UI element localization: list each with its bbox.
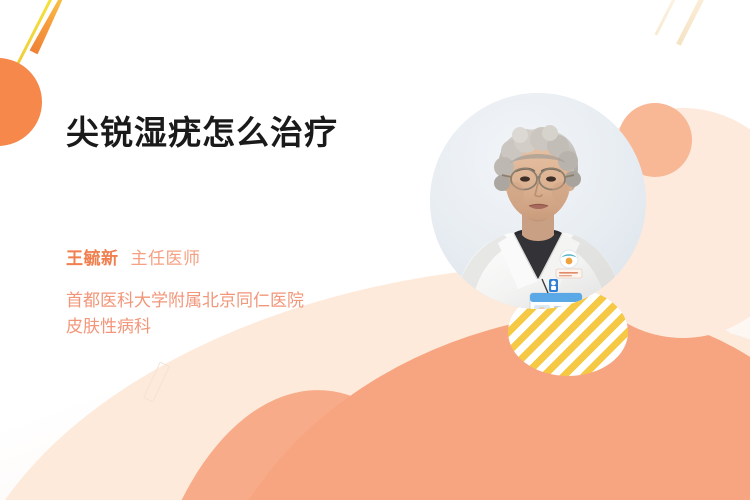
doctor-hospital: 首都医科大学附属北京同仁医院 — [66, 288, 304, 314]
doctor-rank: 主任医师 — [131, 249, 201, 269]
page-title: 尖锐湿疣怎么治疗 — [66, 112, 338, 153]
doctor-department: 皮肤性病科 — [66, 314, 304, 340]
doctor-credentials: 王毓新主任医师 — [66, 248, 201, 270]
doctor-affiliation: 首都医科大学附属北京同仁医院 皮肤性病科 — [66, 288, 304, 341]
slide-canvas: 尖锐湿疣怎么治疗 王毓新主任医师 首都医科大学附属北京同仁医院 皮肤性病科 — [0, 0, 750, 500]
doctor-name: 王毓新 — [66, 249, 119, 269]
doctor-portrait — [430, 93, 646, 309]
